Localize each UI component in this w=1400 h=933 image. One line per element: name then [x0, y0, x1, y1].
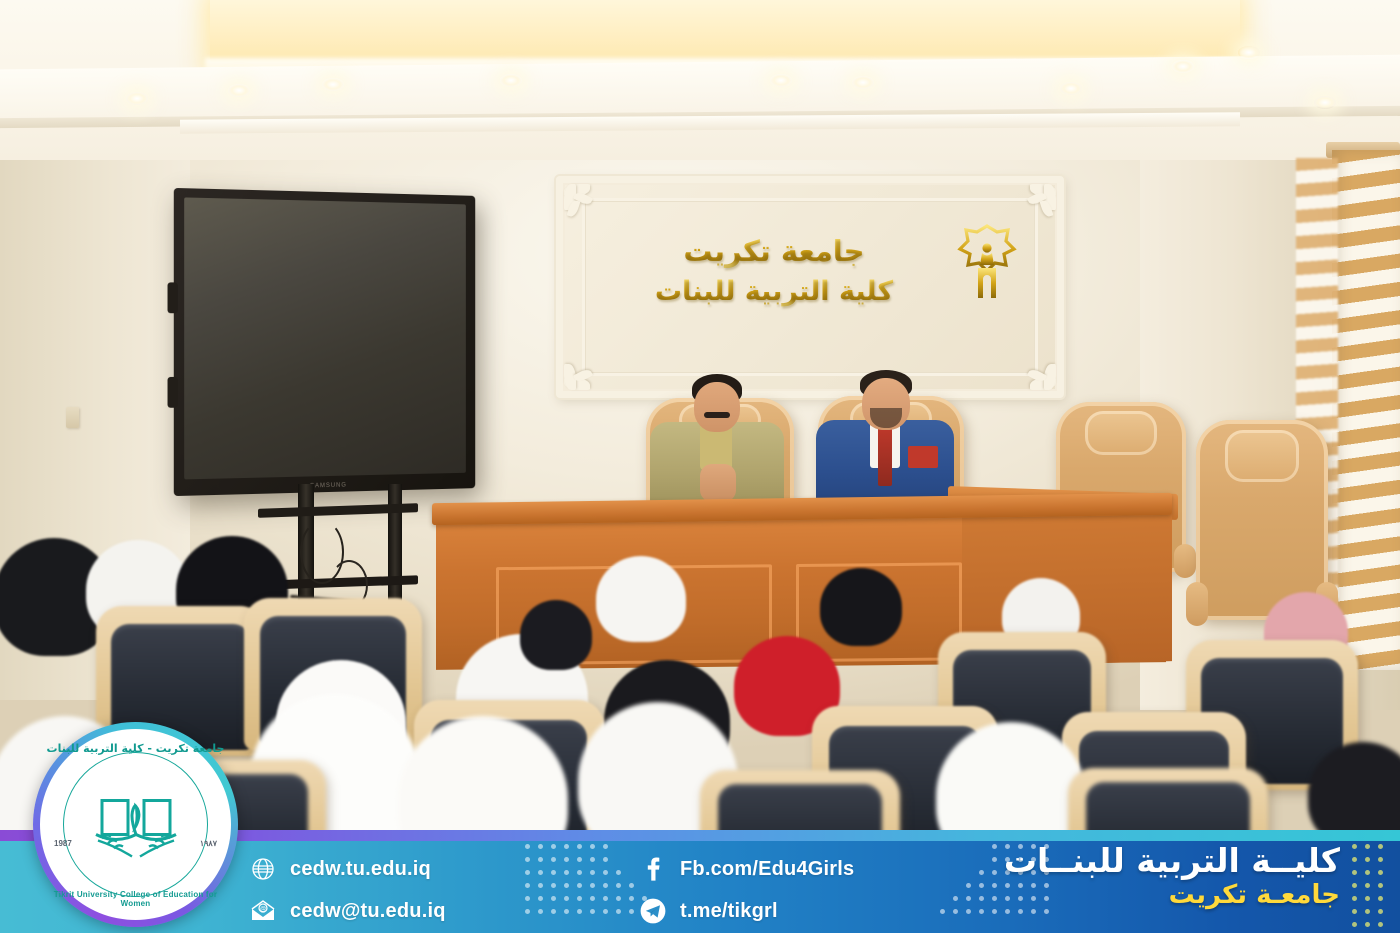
svg-text:@: @	[260, 907, 266, 913]
dot	[616, 883, 621, 888]
tikrit-university-emblem-icon	[956, 224, 1018, 302]
dot	[616, 870, 621, 875]
dot-pattern-edge	[1352, 844, 1392, 920]
ceiling-downlight	[770, 74, 792, 87]
dot	[992, 896, 997, 901]
ceiling-downlight	[228, 84, 250, 97]
dot	[1352, 870, 1357, 875]
dot	[603, 870, 608, 875]
dot	[525, 909, 530, 914]
dot	[1365, 922, 1370, 927]
ceiling-downlight	[1172, 60, 1194, 73]
dot	[940, 909, 945, 914]
dot	[1352, 883, 1357, 888]
panel-chair	[1196, 420, 1328, 620]
dot	[992, 857, 997, 862]
dot	[979, 870, 984, 875]
dot	[551, 883, 556, 888]
dot	[966, 883, 971, 888]
dot	[1365, 883, 1370, 888]
dot	[564, 896, 569, 901]
footer-college-name: كليــة التربية للبنــات	[1004, 844, 1340, 879]
footer-banner: جامعة تكريت - كلية التربية للبنات Tikrit…	[0, 830, 1400, 933]
ceiling-downlight	[500, 74, 522, 87]
dot	[1378, 844, 1383, 849]
wall-sign-line-1: جامعة تكريت	[556, 234, 992, 268]
dot	[1352, 844, 1357, 849]
dot	[525, 883, 530, 888]
dot	[577, 896, 582, 901]
dot	[979, 909, 984, 914]
dot	[590, 844, 595, 849]
telegram-icon	[640, 898, 666, 924]
contact-email[interactable]: @ cedw@tu.edu.iq	[250, 890, 510, 932]
dot	[1365, 896, 1370, 901]
dot	[538, 883, 543, 888]
logo-year-latin: 1987	[54, 839, 72, 848]
dot	[538, 896, 543, 901]
logo-arabic-text: جامعة تكريت - كلية التربية للبنات	[40, 742, 231, 755]
dot	[603, 883, 608, 888]
dot	[525, 870, 530, 875]
telegram-handle: t.me/tikgrl	[680, 900, 778, 923]
dot	[966, 909, 971, 914]
ceiling-downlight	[1314, 96, 1336, 109]
dot	[538, 870, 543, 875]
dot	[551, 909, 556, 914]
dot	[1352, 857, 1357, 862]
display-side-button	[168, 282, 178, 313]
audience-head	[820, 568, 902, 646]
dot	[1378, 883, 1383, 888]
audience-head	[520, 600, 592, 670]
dot	[603, 857, 608, 862]
dot	[525, 844, 530, 849]
flat-panel-display: SAMSUNG	[174, 188, 475, 496]
ceiling-cove-recess	[210, 0, 1240, 66]
dot	[616, 909, 621, 914]
dot	[979, 896, 984, 901]
ceiling-downlight	[322, 78, 344, 91]
display-screen	[184, 197, 466, 479]
dot	[992, 870, 997, 875]
dot	[966, 896, 971, 901]
dot	[577, 909, 582, 914]
dot	[551, 870, 556, 875]
dot	[564, 870, 569, 875]
dot	[603, 896, 608, 901]
envelope-icon: @	[250, 898, 276, 924]
dot	[551, 844, 556, 849]
logo-disc: جامعة تكريت - كلية التربية للبنات Tikrit…	[40, 729, 231, 920]
speaker-right-pocket-square	[908, 446, 938, 468]
dot	[992, 883, 997, 888]
dot	[577, 883, 582, 888]
dot	[1378, 909, 1383, 914]
email-address: cedw@tu.edu.iq	[290, 900, 446, 923]
social-facebook[interactable]: Fb.com/Edu4Girls	[640, 848, 940, 890]
photo-canvas: جامعة تكريت كلية التربية للبنات	[0, 0, 1400, 933]
dot	[1378, 922, 1383, 927]
globe-icon	[250, 856, 276, 882]
ceiling-downlight	[126, 92, 148, 105]
facebook-icon	[640, 856, 666, 882]
dot	[1365, 844, 1370, 849]
dot	[979, 883, 984, 888]
dot	[551, 896, 556, 901]
dot	[629, 896, 634, 901]
dot	[577, 844, 582, 849]
speaker-left-clasped-hands	[700, 464, 736, 502]
dot	[1352, 922, 1357, 927]
footer-arabic-titles: كليــة التربية للبنــات جامعـة تكريت	[1004, 844, 1340, 911]
dot	[577, 870, 582, 875]
footer-university-name: جامعـة تكريت	[1004, 881, 1340, 911]
dot	[538, 909, 543, 914]
light-switch-plate	[66, 407, 79, 428]
dot	[1365, 909, 1370, 914]
dot	[577, 857, 582, 862]
dot	[992, 844, 997, 849]
dot	[564, 857, 569, 862]
corner-ornament-icon	[560, 180, 612, 232]
dot	[590, 883, 595, 888]
dot	[603, 844, 608, 849]
website-url: cedw.tu.edu.iq	[290, 858, 431, 881]
display-brand-mark: SAMSUNG	[310, 483, 347, 490]
speaker-right-tie	[878, 424, 892, 486]
dot	[629, 909, 634, 914]
speaker-right	[812, 370, 958, 512]
dot	[603, 909, 608, 914]
wall-sign-line-2: كلية التربية للبنات	[556, 276, 992, 307]
dot	[525, 857, 530, 862]
social-telegram[interactable]: t.me/tikgrl	[640, 890, 940, 932]
logo-english-text: Tikrit University College of Education f…	[40, 890, 231, 908]
dot	[564, 909, 569, 914]
dot	[1378, 857, 1383, 862]
display-side-button	[168, 377, 178, 408]
speaker-left-moustache	[704, 412, 730, 418]
dot	[992, 909, 997, 914]
dot	[590, 896, 595, 901]
dot	[1378, 896, 1383, 901]
corner-ornament-icon	[560, 342, 612, 394]
facebook-handle: Fb.com/Edu4Girls	[680, 858, 854, 881]
dot	[564, 883, 569, 888]
dot	[1365, 870, 1370, 875]
window-blinds	[1332, 150, 1400, 670]
college-logo: جامعة تكريت - كلية التربية للبنات Tikrit…	[33, 722, 238, 927]
footer-social: Fb.com/Edu4Girls t.me/tikgrl	[640, 848, 940, 932]
dot	[1352, 909, 1357, 914]
dot	[538, 844, 543, 849]
corner-ornament-icon	[1008, 342, 1060, 394]
speaker-left-face	[694, 382, 740, 432]
book-and-wheat-icon	[88, 786, 184, 860]
dot	[1378, 870, 1383, 875]
logo-year-arabic: ١٩٨٧	[200, 839, 217, 848]
audience-head	[596, 556, 686, 642]
dot	[953, 909, 958, 914]
dot	[590, 857, 595, 862]
ceiling-downlight	[852, 76, 874, 89]
dot	[953, 896, 958, 901]
dot	[616, 896, 621, 901]
decorative-wall-frame: جامعة تكريت كلية التربية للبنات	[556, 176, 1064, 398]
dot	[590, 870, 595, 875]
ceiling-downlight	[1060, 82, 1082, 95]
dot	[551, 857, 556, 862]
dot	[564, 844, 569, 849]
dot	[629, 883, 634, 888]
dot	[1365, 857, 1370, 862]
dot	[525, 896, 530, 901]
speaker-left	[642, 372, 792, 512]
dot	[538, 857, 543, 862]
dot	[1352, 896, 1357, 901]
footer-contacts: cedw.tu.edu.iq @ cedw@tu.edu.iq	[250, 848, 510, 932]
contact-website[interactable]: cedw.tu.edu.iq	[250, 848, 510, 890]
dot	[590, 909, 595, 914]
ceiling-downlight	[1238, 46, 1260, 59]
